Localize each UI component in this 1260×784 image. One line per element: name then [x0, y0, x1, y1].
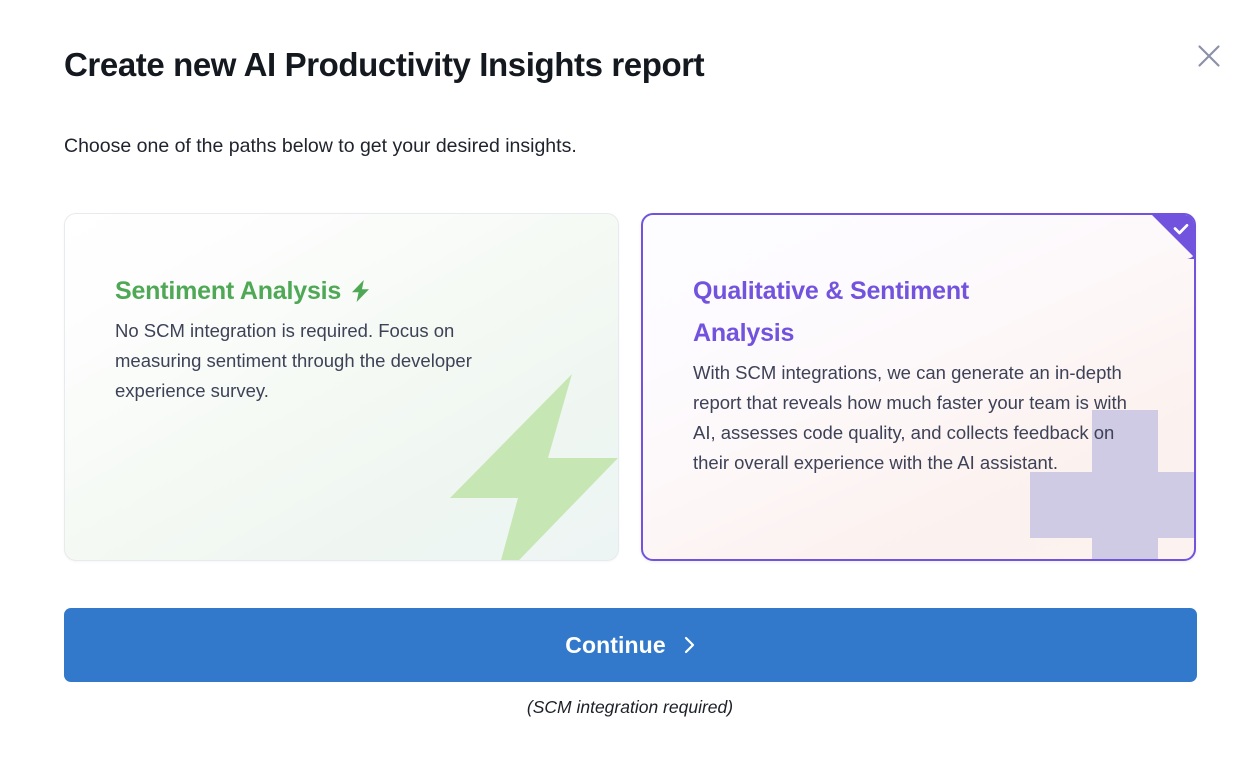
card-title-text: Sentiment Analysis [115, 270, 341, 312]
create-report-modal: Create new AI Productivity Insights repo… [0, 0, 1260, 784]
card-title: Sentiment Analysis [115, 270, 574, 312]
page-title: Create new AI Productivity Insights repo… [64, 43, 704, 87]
continue-button-label: Continue [565, 632, 665, 659]
option-card-sentiment-analysis[interactable]: Sentiment Analysis No SCM integration is… [64, 213, 619, 561]
card-content: Qualitative & Sentiment Analysis With SC… [643, 215, 1194, 478]
continue-button[interactable]: Continue [64, 608, 1197, 682]
modal-subtitle: Choose one of the paths below to get you… [64, 131, 577, 161]
card-title: Qualitative & Sentiment Analysis [693, 270, 1045, 354]
card-content: Sentiment Analysis No SCM integration is… [65, 214, 618, 406]
path-options: Sentiment Analysis No SCM integration is… [64, 213, 1196, 561]
card-description: No SCM integration is required. Focus on… [115, 316, 535, 406]
option-card-qualitative-sentiment-analysis[interactable]: Qualitative & Sentiment Analysis With SC… [641, 213, 1196, 561]
card-description: With SCM integrations, we can generate a… [693, 358, 1133, 478]
scm-requirement-note: (SCM integration required) [0, 695, 1260, 719]
chevron-right-icon [683, 635, 696, 655]
close-button[interactable] [1186, 33, 1232, 79]
close-icon [1196, 43, 1222, 69]
lightning-bolt-icon [351, 280, 370, 302]
